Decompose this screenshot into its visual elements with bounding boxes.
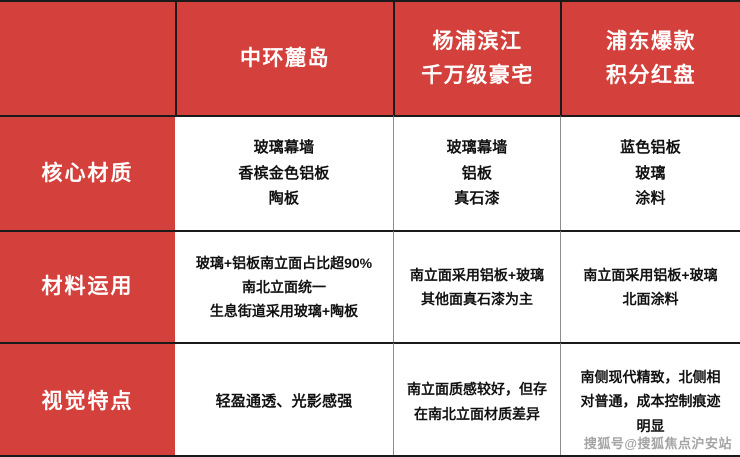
table-cell-text: 南立面采用铝板+玻璃 北面涂料 [583,263,717,311]
table-cell-text: 蓝色铝板 玻璃 涂料 [620,135,681,212]
column-header-zhonghuan: 中环麓岛 [175,2,393,115]
table-corner-cell [0,2,175,115]
column-header-label: 浦东爆款 积分红盘 [606,25,696,92]
row-label-material-usage: 材料运用 [0,230,175,342]
table-cell: 南立面采用铝板+玻璃 北面涂料 [560,230,740,342]
column-header-label: 中环麓岛 [240,42,330,76]
column-header-yangpu: 杨浦滨江 千万级豪宅 [393,2,560,115]
table-cell-text: 南侧现代精致，北侧相 对普通，成本控制痕迹 明显 [581,365,721,437]
table-cell: 轻盈通透、光影感强 [175,342,393,457]
table-cell: 蓝色铝板 玻璃 涂料 [560,115,740,230]
column-header-label: 杨浦滨江 千万级豪宅 [421,25,534,92]
table-cell-text: 南立面质感较好，但存 在南北立面材质差异 [407,377,547,425]
table-cell: 玻璃幕墙 香槟金色铝板 陶板 [175,115,393,230]
column-header-pudong: 浦东爆款 积分红盘 [560,2,740,115]
row-label-text: 材料运用 [42,271,134,303]
row-label-core-material: 核心材质 [0,115,175,230]
table-cell-text: 玻璃+铝板南立面占比超90% 南北立面统一 生息街道采用玻璃+陶板 [196,251,372,323]
row-label-visual-features: 视觉特点 [0,342,175,457]
table-cell: 南立面质感较好，但存 在南北立面材质差异 [393,342,560,457]
table-cell-text: 玻璃幕墙 铝板 真石漆 [447,135,508,212]
table-cell: 南立面采用铝板+玻璃 其他面真石漆为主 [393,230,560,342]
table-cell-text: 轻盈通透、光影感强 [216,389,353,415]
row-label-text: 核心材质 [42,158,134,190]
table-cell-text: 南立面采用铝板+玻璃 其他面真石漆为主 [410,263,544,311]
table-cell-text: 玻璃幕墙 香槟金色铝板 陶板 [238,135,329,212]
row-label-text: 视觉特点 [42,386,134,418]
table-grid: 中环麓岛 杨浦滨江 千万级豪宅 浦东爆款 积分红盘 核心材质 玻璃幕墙 香槟金色… [0,2,740,457]
table-cell: 玻璃幕墙 铝板 真石漆 [393,115,560,230]
table-cell: 南侧现代精致，北侧相 对普通，成本控制痕迹 明显 [560,342,740,457]
comparison-table: 中环麓岛 杨浦滨江 千万级豪宅 浦东爆款 积分红盘 核心材质 玻璃幕墙 香槟金色… [0,0,740,457]
table-cell: 玻璃+铝板南立面占比超90% 南北立面统一 生息街道采用玻璃+陶板 [175,230,393,342]
